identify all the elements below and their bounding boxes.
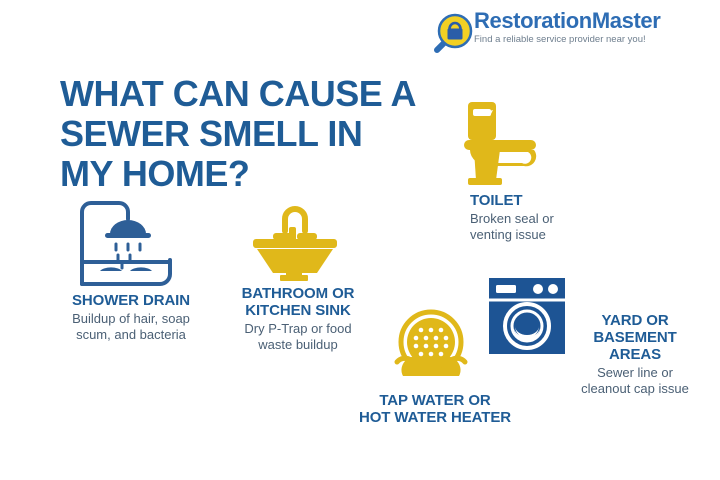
brand-logo: RestorationMaster Find a reliable servic… <box>430 10 695 56</box>
cause-toilet: TOILET Broken seal or venting issue <box>470 192 650 243</box>
cause-description: Sewer line or cleanout cap issue <box>560 365 710 397</box>
infographic-canvas: RestorationMaster Find a reliable servic… <box>0 0 720 480</box>
cause-title-line-1: BATHROOM OR <box>208 285 388 302</box>
toilet-icon <box>456 100 542 186</box>
page-title: WHAT CAN CAUSE A SEWER SMELL IN MY HOME? <box>60 74 480 194</box>
cause-title-line-1: TAP WATER OR <box>330 392 540 409</box>
cause-title-line-2: KITCHEN SINK <box>208 302 388 319</box>
brand-name-part1: Restoration <box>474 8 592 33</box>
cause-title: TAP WATER OR HOT WATER HEATER <box>330 392 540 426</box>
cause-desc-line-2: waste buildup <box>208 337 388 353</box>
cause-title-line-1: YARD OR <box>560 312 710 329</box>
brand-wordmark: RestorationMaster Find a reliable servic… <box>474 9 694 46</box>
cause-description: Dry P-Trap or food waste buildup <box>208 321 388 353</box>
headline-line-3: MY HOME? <box>60 154 480 194</box>
cause-title: TOILET <box>470 192 650 209</box>
headline-line-2: SEWER SMELL IN <box>60 114 480 154</box>
cause-desc-line-2: cleanout cap issue <box>560 381 710 397</box>
cause-tap-water: TAP WATER OR HOT WATER HEATER <box>330 392 540 426</box>
cause-desc-line-2: scum, and bacteria <box>36 327 226 343</box>
cause-title-line-2: HOT WATER HEATER <box>330 409 540 426</box>
cause-desc-line-1: Broken seal or <box>470 211 650 227</box>
cause-yard-basement: YARD OR BASEMENT AREAS Sewer line or cle… <box>560 312 710 397</box>
cause-title: SHOWER DRAIN <box>36 292 226 309</box>
cause-desc-line-1: Dry P-Trap or food <box>208 321 388 337</box>
pedestal-sink-icon <box>237 197 352 283</box>
cause-desc-line-1: Buildup of hair, soap <box>36 311 226 327</box>
cause-description: Broken seal or venting issue <box>470 211 650 243</box>
headline-line-1: WHAT CAN CAUSE A <box>60 74 480 114</box>
brand-tagline: Find a reliable service provider near yo… <box>474 34 694 46</box>
magnifier-padlock-logo-icon <box>430 12 474 54</box>
perforated-tap-head-icon <box>383 304 479 390</box>
cause-sink: BATHROOM OR KITCHEN SINK Dry P-Trap or f… <box>208 285 388 353</box>
cause-desc-line-1: Sewer line or <box>560 365 710 381</box>
cause-title-line-3: AREAS <box>560 346 710 363</box>
shower-head-tub-icon <box>72 198 182 290</box>
brand-name-part2: Master <box>592 8 661 33</box>
brand-name: RestorationMaster <box>474 9 694 33</box>
cause-title: BATHROOM OR KITCHEN SINK <box>208 285 388 319</box>
cause-shower-drain: SHOWER DRAIN Buildup of hair, soap scum,… <box>36 292 226 343</box>
cause-title-line-2: BASEMENT <box>560 329 710 346</box>
cause-desc-line-2: venting issue <box>470 227 650 243</box>
cause-description: Buildup of hair, soap scum, and bacteria <box>36 311 226 343</box>
cause-title: YARD OR BASEMENT AREAS <box>560 312 710 363</box>
washing-machine-icon <box>487 276 567 356</box>
